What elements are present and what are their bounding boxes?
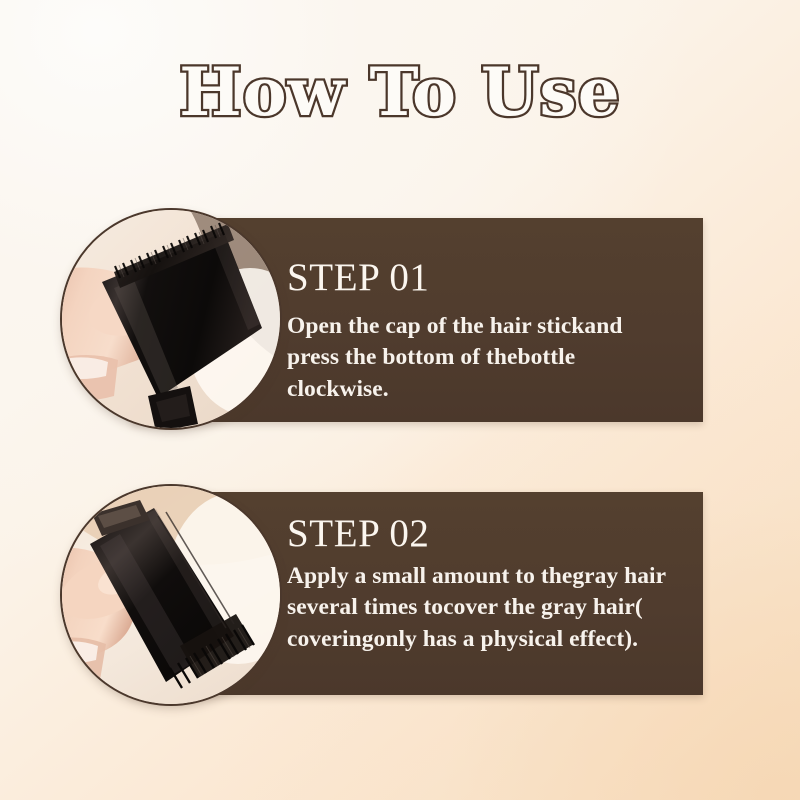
step-2-text-block: STEP 02 Apply a small amount to thegray … — [287, 492, 677, 695]
page-title-container: How To Use — [0, 58, 800, 127]
step-row-2: STEP 02 Apply a small amount to thegray … — [0, 468, 800, 700]
page-title: How To Use — [179, 58, 620, 127]
step-2-body: Apply a small amount to thegray hair sev… — [287, 561, 677, 655]
step-1-heading: STEP 01 — [287, 258, 677, 297]
step-2-photo — [62, 486, 280, 704]
hand-holding-hair-stick-upright-illustration — [62, 210, 280, 428]
hand-holding-hair-stick-tilted-illustration — [62, 486, 280, 704]
step-1-body: Open the cap of the hair stickand press … — [287, 311, 677, 405]
step-1-photo — [62, 210, 280, 428]
how-to-use-infographic: How To Use STEP 01 Open the cap of the h… — [0, 0, 800, 800]
step-1-text-block: STEP 01 Open the cap of the hair stickan… — [287, 218, 677, 422]
step-row-1: STEP 01 Open the cap of the hair stickan… — [0, 194, 800, 426]
step-2-heading: STEP 02 — [287, 514, 677, 553]
